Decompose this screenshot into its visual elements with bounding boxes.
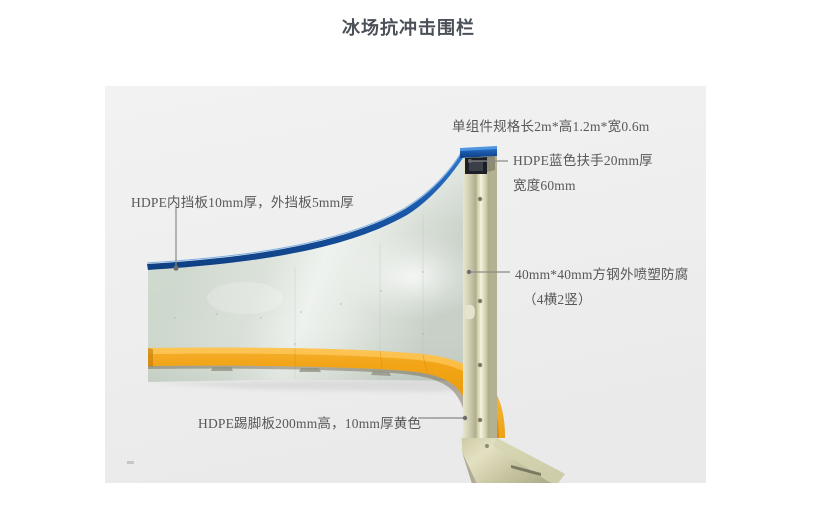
page-title: 冰场抗冲击围栏 [0,14,817,40]
callout-kickplate: HDPE踢脚板200mm高，10mm厚黄色 [198,411,421,436]
photo-artifact [127,461,134,464]
callout-module-spec: 单组件规格长2m*高1.2m*宽0.6m [452,114,650,139]
callout-steel-tube-line2: （4横2竖） [523,287,592,312]
callout-hdpe-panel: HDPE内挡板10mm厚，外挡板5mm厚 [131,190,354,215]
post-inner-face [463,155,476,438]
callout-handrail-line2: 宽度60mm [513,173,576,198]
callout-steel-tube-line1: 40mm*40mm方钢外喷塑防腐 [515,262,688,287]
callout-handrail-line1: HDPE蓝色扶手20mm厚 [513,148,653,173]
post-outer-face [490,152,497,444]
